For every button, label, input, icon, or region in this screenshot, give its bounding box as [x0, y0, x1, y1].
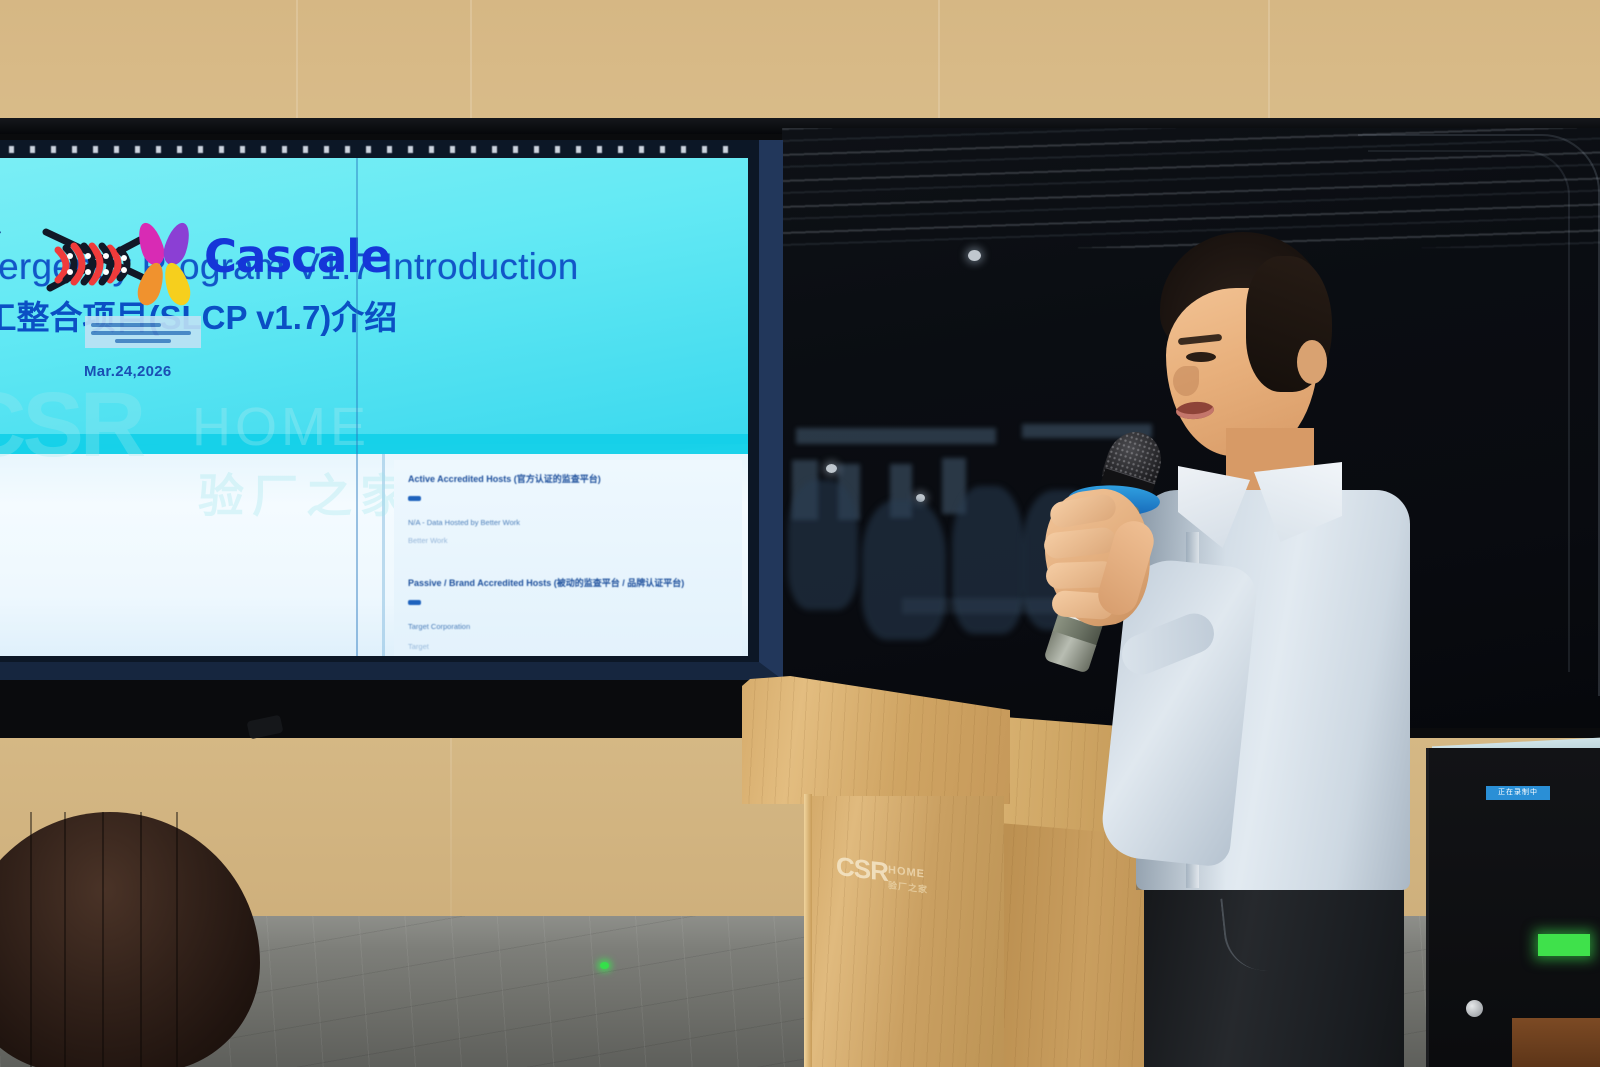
hair-strand: [102, 812, 104, 1067]
hosts-subtext: Target Corporation: [408, 622, 470, 631]
cascale-petals-icon: [138, 222, 196, 304]
hosts-heading-passive: Passive / Brand Accredited Hosts (被动的监查平…: [408, 576, 684, 589]
presentation-slide[interactable]: CSR HOME 验厂之家 ...vergency Program V1.7 I…: [0, 158, 748, 656]
hair-strand: [140, 812, 142, 1067]
note-line: [115, 339, 171, 343]
cascale-wordmark: Cascale: [204, 230, 390, 283]
petal-magenta: [134, 220, 169, 269]
hosts-heading-active: Active Accredited Hosts (官方认证的监查平台): [408, 472, 601, 485]
petal-purple: [160, 220, 195, 269]
note-line: [91, 323, 161, 327]
cascale-logo: Cascale: [138, 216, 378, 312]
cabinet-status-led: [1538, 934, 1590, 956]
slide-screen-seam: [356, 158, 358, 656]
podium-front-panel: [810, 796, 1004, 1067]
slide-divider-band: [0, 434, 748, 456]
slcp-weave-icon: [40, 222, 152, 304]
hair-strand: [64, 812, 66, 1067]
podium-logo-cn: 验厂之家: [888, 878, 928, 896]
ceiling-light-reflection: [826, 464, 837, 473]
wooden-surface: [1512, 1018, 1600, 1067]
petal-yellow: [160, 260, 195, 309]
note-line: [91, 331, 191, 335]
podium-edge-highlight: [804, 794, 812, 1067]
hosts-bullet: [408, 600, 421, 605]
slcp-logo: & Labor rgence ogram: [0, 216, 158, 316]
podium-top-left: [742, 676, 1010, 804]
ceiling-light-reflection: [968, 250, 981, 261]
cabinet-label: 正在录制中: [1486, 786, 1550, 800]
speaker: [1010, 232, 1410, 1067]
hair-strand: [176, 812, 178, 1067]
presentation-photo: CSR HOME 验厂之家 ...vergency Program V1.7 I…: [0, 0, 1600, 1067]
slide-column-divider: [382, 454, 385, 656]
hosts-subtext: N/A - Data Hosted by Better Work: [408, 518, 520, 527]
speaker-ear: [1297, 340, 1327, 384]
floor-green-indicator-light: [600, 962, 609, 969]
slide-date: Mar.24,2026: [84, 363, 172, 380]
wood-grain: [742, 676, 1010, 804]
window-reflection: [796, 428, 996, 444]
hosts-subtext: Target: [408, 642, 429, 651]
wood-grain: [810, 796, 1004, 1067]
cabinet-label-text: 正在录制中: [1486, 786, 1550, 800]
petal-orange: [134, 260, 169, 309]
speaker-nose: [1173, 366, 1199, 396]
podium-logo-csr: CSR: [836, 851, 888, 888]
speaker-eye: [1186, 352, 1216, 362]
hosts-bullet: [408, 496, 421, 501]
slide-note-box: [85, 316, 201, 348]
slcp-logo-line1: & Labor: [0, 226, 1, 242]
cabinet-lock-knob[interactable]: [1466, 1000, 1483, 1017]
display-top-led-strip: [0, 146, 728, 153]
audience-reflection: [862, 500, 946, 640]
hosts-subtext: Better Work: [408, 536, 447, 545]
audience-reflection: [788, 480, 858, 610]
hair-strand: [30, 812, 32, 1067]
accredited-hosts-panel: Active Accredited Hosts (官方认证的监查平台) N/A …: [394, 460, 742, 656]
